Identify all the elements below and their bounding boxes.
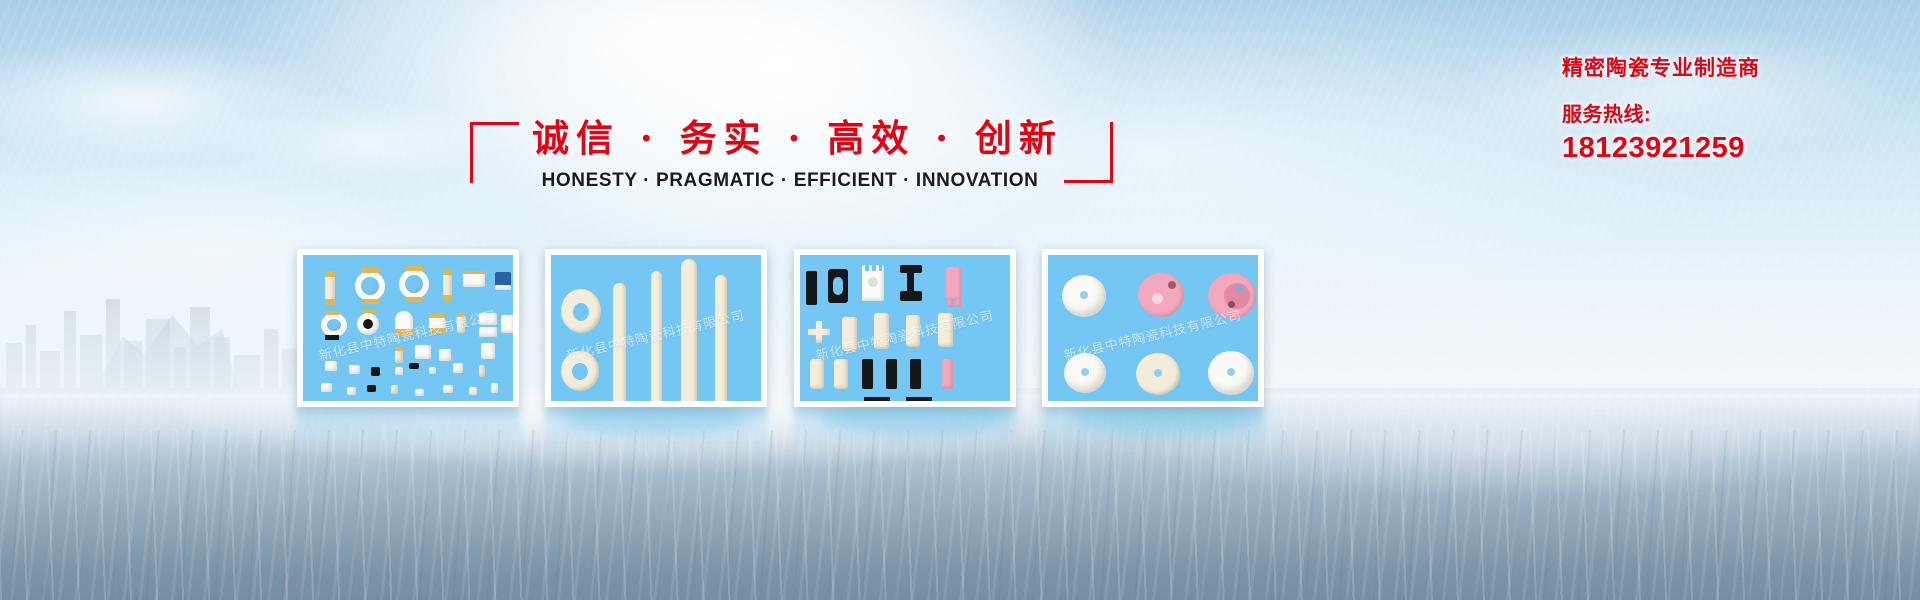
panel-reflection — [1042, 407, 1264, 453]
bracket-bottom-right — [1064, 122, 1113, 183]
product-panel-4[interactable]: 新化县中特陶瓷科技有限公司 — [1042, 249, 1264, 407]
contact-block: 精密陶瓷专业制造商 服务热线: 18123921259 — [1562, 52, 1902, 165]
product-photo-ceramic-nozzles: 新化县中特陶瓷科技有限公司 — [1048, 255, 1258, 401]
panel-reflection — [545, 407, 767, 453]
product-photo-ceramic-blocks: 新化县中特陶瓷科技有限公司 — [800, 255, 1010, 401]
slogan-block: 诚信 · 务实 · 高效 · 创新 HONESTY · PRAGMATIC · … — [470, 108, 1110, 208]
hotline-phone-number[interactable]: 18123921259 — [1562, 132, 1902, 165]
product-panel-2[interactable]: 新化县中特陶瓷科技有限公司 — [545, 249, 767, 407]
product-panel-1[interactable]: 新化县中特陶瓷科技有限公司 — [297, 249, 519, 407]
product-panel-3[interactable]: 新化县中特陶瓷科技有限公司 — [794, 249, 1016, 407]
product-photo-ceramic-tubes: 新化县中特陶瓷科技有限公司 — [551, 255, 761, 401]
product-panel-strip: 新化县中特陶瓷科技有限公司 新化县中特陶瓷科技有限公司 — [297, 249, 1277, 407]
hotline-label: 服务热线: — [1562, 98, 1902, 127]
company-tagline: 精密陶瓷专业制造商 — [1562, 52, 1902, 82]
slogan-english: HONESTY · PRAGMATIC · EFFICIENT · INNOVA… — [510, 170, 1070, 192]
panel-reflection — [794, 407, 1016, 453]
banner-stage: 诚信 · 务实 · 高效 · 创新 HONESTY · PRAGMATIC · … — [0, 0, 1920, 600]
ground-streaks — [0, 430, 1920, 600]
slogan-chinese: 诚信 · 务实 · 高效 · 创新 — [532, 108, 1048, 162]
product-photo-smd-components: 新化县中特陶瓷科技有限公司 — [303, 255, 513, 401]
panel-reflection — [297, 407, 519, 453]
